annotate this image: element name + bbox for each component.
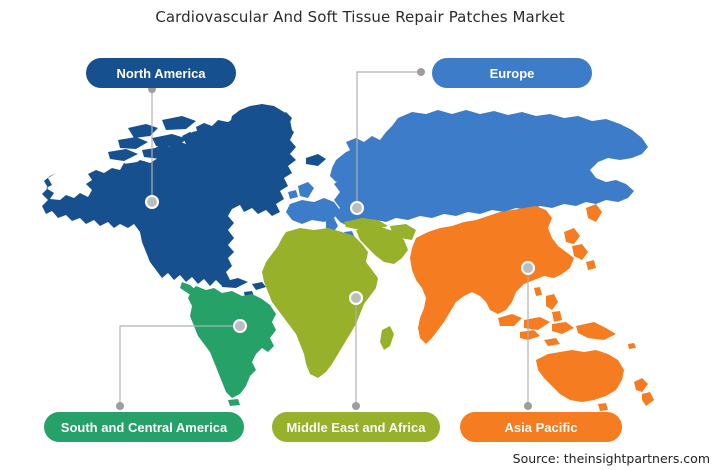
region-badge-europe[interactable]: Europe bbox=[432, 58, 592, 88]
source-attribution: Source: theinsightpartners.com bbox=[513, 451, 710, 466]
map-region-south-and-central-america[interactable] bbox=[180, 282, 276, 406]
map-region-middle-east-and-africa[interactable] bbox=[262, 218, 416, 378]
map-region-asia-pacific[interactable] bbox=[410, 204, 654, 411]
market-region-map-infographic: Cardiovascular And Soft Tissue Repair Pa… bbox=[0, 0, 720, 470]
region-badge-middle-east-and-africa[interactable]: Middle East and Africa bbox=[272, 412, 440, 442]
region-badge-asia-pacific[interactable]: Asia Pacific bbox=[460, 412, 622, 442]
region-badge-south-and-central-america[interactable]: South and Central America bbox=[44, 412, 244, 442]
region-badge-north-america[interactable]: North America bbox=[86, 58, 236, 88]
